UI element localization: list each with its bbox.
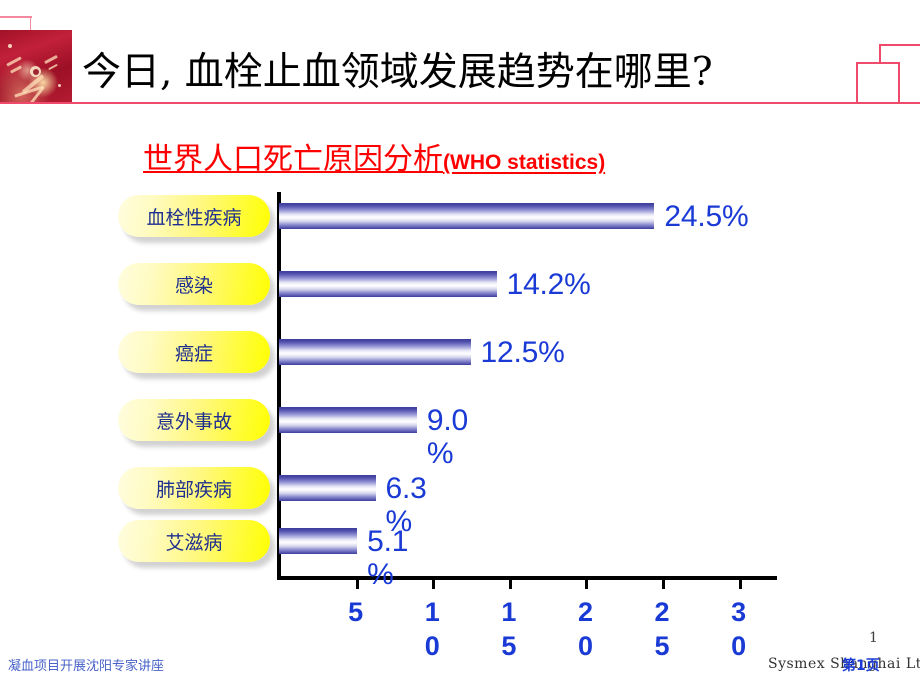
x-tick-label-20: 2 0 bbox=[574, 595, 596, 663]
category-pill-0: 血栓性疾病 bbox=[118, 195, 270, 237]
category-pill-4: 肺部疾病 bbox=[118, 467, 270, 509]
chart-y-axis bbox=[277, 192, 281, 580]
bar-chart: 24.5%14.2%12.5%9.0 %6.3 %5.1 % 血栓性疾病感染癌症… bbox=[0, 0, 920, 690]
bar-value-label-5: 5.1 % bbox=[367, 525, 408, 591]
x-tick-label-15: 1 5 bbox=[498, 595, 520, 663]
bar-5 bbox=[279, 528, 357, 554]
category-pill-2: 癌症 bbox=[118, 331, 270, 373]
bar-value-label-2: 12.5% bbox=[481, 336, 565, 369]
footer-page-number: 1 bbox=[869, 630, 878, 646]
bar-4 bbox=[279, 475, 376, 501]
footer-left-text: 凝血项目开展沈阳专家讲座 bbox=[8, 655, 164, 674]
x-tick-5 bbox=[356, 580, 359, 589]
bar-3 bbox=[279, 407, 417, 433]
x-tick-label-5: 5 bbox=[345, 595, 367, 629]
x-tick-15 bbox=[509, 580, 512, 589]
bar-value-label-3: 9.0 % bbox=[427, 404, 468, 470]
chart-x-axis bbox=[277, 576, 777, 580]
bar-0 bbox=[279, 203, 654, 229]
category-pill-3: 意外事故 bbox=[118, 399, 270, 441]
category-pill-1: 感染 bbox=[118, 263, 270, 305]
bar-value-label-1: 14.2% bbox=[507, 268, 591, 301]
x-tick-label-10: 1 0 bbox=[421, 595, 443, 663]
x-tick-30 bbox=[739, 580, 742, 589]
x-tick-label-25: 2 5 bbox=[651, 595, 673, 663]
bar-2 bbox=[279, 339, 471, 365]
x-tick-25 bbox=[662, 580, 665, 589]
x-tick-10 bbox=[432, 580, 435, 589]
bar-value-label-0: 24.5% bbox=[664, 200, 748, 233]
x-tick-20 bbox=[585, 580, 588, 589]
bar-1 bbox=[279, 271, 497, 297]
category-pill-5: 艾滋病 bbox=[118, 520, 270, 562]
footer-page-label: 第1页 bbox=[842, 655, 880, 675]
x-tick-label-30: 3 0 bbox=[728, 595, 750, 663]
